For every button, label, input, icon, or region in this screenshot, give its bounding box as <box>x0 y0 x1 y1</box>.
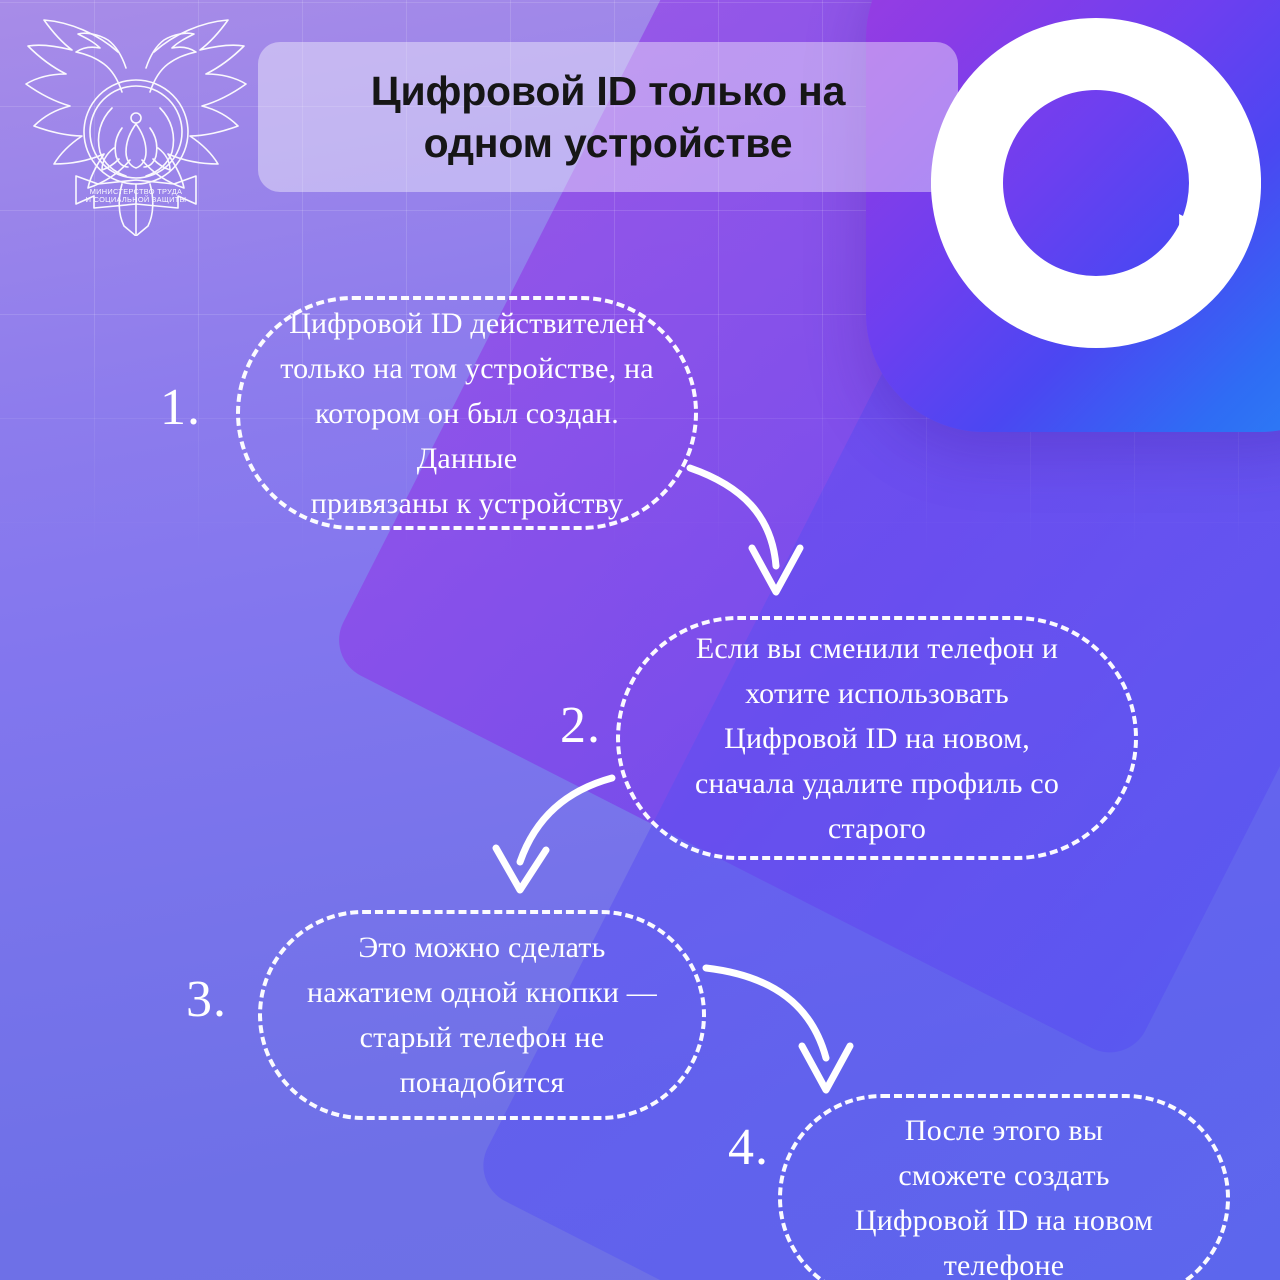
step-text-2: Если вы сменили телефон и хотите использ… <box>669 626 1085 851</box>
arrow-step1-to-step2 <box>690 468 800 592</box>
arrow-step2-to-step3 <box>496 778 612 890</box>
ministry-emblem-icon: МИНИСТЕРСТВО ТРУДА И СОЦИАЛЬНОЙ ЗАЩИТЫ <box>14 8 258 236</box>
step-number-4: 4. <box>728 1122 769 1174</box>
step-text-3: Это можно сделать нажатием одной кнопки … <box>281 925 683 1105</box>
digital-id-ring-icon <box>931 18 1261 348</box>
infographic-poster: МИНИСТЕРСТВО ТРУДА И СОЦИАЛЬНОЙ ЗАЩИТЫ Ц… <box>0 0 1280 1280</box>
page-title: Цифровой ID только на одном устройстве <box>345 65 871 170</box>
step-number-3: 3. <box>186 974 227 1026</box>
step-number-1: 1. <box>160 382 201 434</box>
svg-text:И СОЦИАЛЬНОЙ ЗАЩИТЫ: И СОЦИАЛЬНОЙ ЗАЩИТЫ <box>86 195 187 204</box>
step-bubble-4: После этого вы сможете создать Цифровой … <box>778 1094 1230 1280</box>
step-number-2: 2. <box>560 700 601 752</box>
title-banner: Цифровой ID только на одном устройстве <box>258 42 958 192</box>
step-bubble-1: Цифровой ID действителен только на том у… <box>236 296 698 530</box>
step-text-4: После этого вы сможете создать Цифровой … <box>829 1108 1179 1280</box>
step-bubble-2: Если вы сменили телефон и хотите использ… <box>616 616 1138 860</box>
step-bubble-3: Это можно сделать нажатием одной кнопки … <box>258 910 706 1120</box>
step-text-1: Цифровой ID действителен только на том у… <box>240 301 694 526</box>
arrow-step3-to-step4 <box>706 968 850 1090</box>
